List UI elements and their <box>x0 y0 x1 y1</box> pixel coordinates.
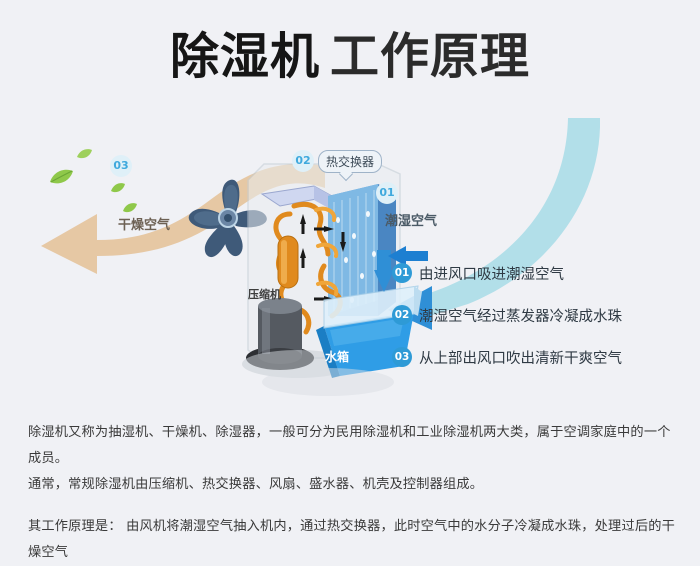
illustration-badge-02: 02 <box>292 150 314 172</box>
page-title: 除湿机工作原理 <box>0 28 700 86</box>
infographic-page: 除湿机工作原理 <box>0 0 700 566</box>
label-humid-air: 潮湿空气 <box>385 210 437 229</box>
list-item: 01 由进风口吸进潮湿空气 <box>392 252 692 294</box>
legend-badge-01: 01 <box>392 263 412 283</box>
list-item: 03 从上部出风口吹出清新干爽空气 <box>392 336 692 378</box>
label-compressor: 压缩机 <box>248 286 281 302</box>
paragraph-1-line-1: 除湿机又称为抽湿机、干燥机、除湿器，一般可分为民用除湿机和工业除湿机两大类，属于… <box>28 420 678 472</box>
leaf-icon <box>122 202 138 214</box>
page-title-part2: 工作原理 <box>330 28 530 85</box>
legend-badge-03: 03 <box>392 347 412 367</box>
illustration-badge-01: 01 <box>376 182 398 204</box>
leaf-icon <box>110 182 126 194</box>
paragraph-2-line-1: 其工作原理是： 由风机将潮湿空气抽入机内，通过热交换器，此时空气中的水分子冷凝成… <box>28 514 678 566</box>
steps-legend: 01 由进风口吸进潮湿空气 02 潮湿空气经过蒸发器冷凝成水珠 03 从上部出风… <box>392 252 692 378</box>
legend-text-02: 潮湿空气经过蒸发器冷凝成水珠 <box>419 305 622 326</box>
body-copy: 除湿机又称为抽湿机、干燥机、除湿器，一般可分为民用除湿机和工业除湿机两大类，属于… <box>28 420 678 566</box>
leaf-icon <box>48 168 74 186</box>
legend-text-01: 由进风口吸进潮湿空气 <box>419 263 564 284</box>
callout-heat-exchanger: 热交换器 <box>318 150 382 173</box>
illustration-badge-03: 03 <box>110 155 132 177</box>
legend-text-03: 从上部出风口吹出清新干爽空气 <box>419 347 622 368</box>
leaf-icon <box>76 148 93 160</box>
label-dry-air: 干燥空气 <box>118 214 170 233</box>
paragraph-1-line-2: 通常，常规除湿机由压缩机、热交换器、风扇、盛水器、机壳及控制器组成。 <box>28 472 678 498</box>
legend-badge-02: 02 <box>392 305 412 325</box>
list-item: 02 潮湿空气经过蒸发器冷凝成水珠 <box>392 294 692 336</box>
label-water-tank: 水箱 <box>325 348 349 365</box>
page-title-part1: 除湿机 <box>170 28 320 85</box>
